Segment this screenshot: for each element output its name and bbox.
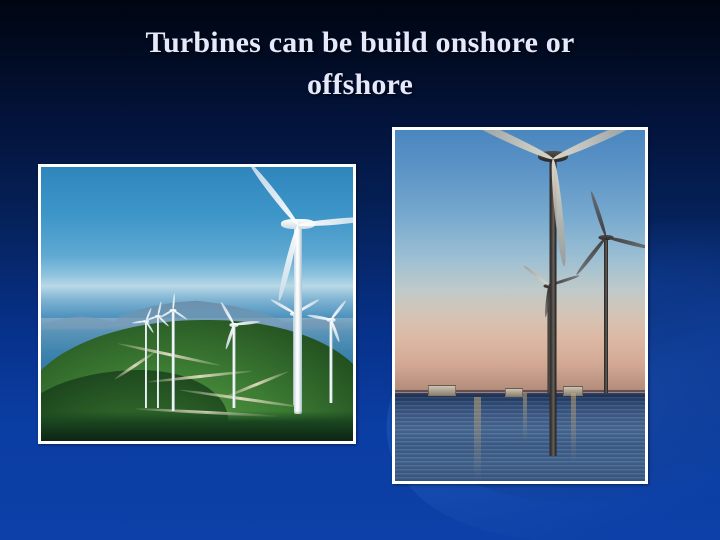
- slide-title-line-1: Turbines can be build onshore or: [40, 22, 680, 64]
- offshore-platform: [428, 385, 456, 396]
- presentation-slide: Turbines can be build onshore or offshor…: [0, 0, 720, 540]
- offshore-turbine-main: [478, 155, 628, 457]
- turbine-tower: [294, 222, 302, 414]
- turbine-tower: [172, 309, 175, 410]
- onshore-photo-frame[interactable]: [38, 164, 356, 444]
- onshore-turbine: [161, 309, 185, 410]
- onshore-turbine: [219, 323, 249, 408]
- slide-title-line-2: offshore: [40, 64, 680, 106]
- turbine-tower: [157, 315, 159, 408]
- offshore-wind-turbines-image: [395, 130, 645, 481]
- slide-title: Turbines can be build onshore or offshor…: [40, 22, 680, 106]
- turbine-tower: [232, 323, 235, 408]
- onshore-wind-farm-image: [41, 167, 353, 441]
- onshore-foreground-vegetation: [41, 411, 353, 441]
- offshore-photo-frame[interactable]: [392, 127, 648, 484]
- onshore-turbine-main: [253, 222, 343, 414]
